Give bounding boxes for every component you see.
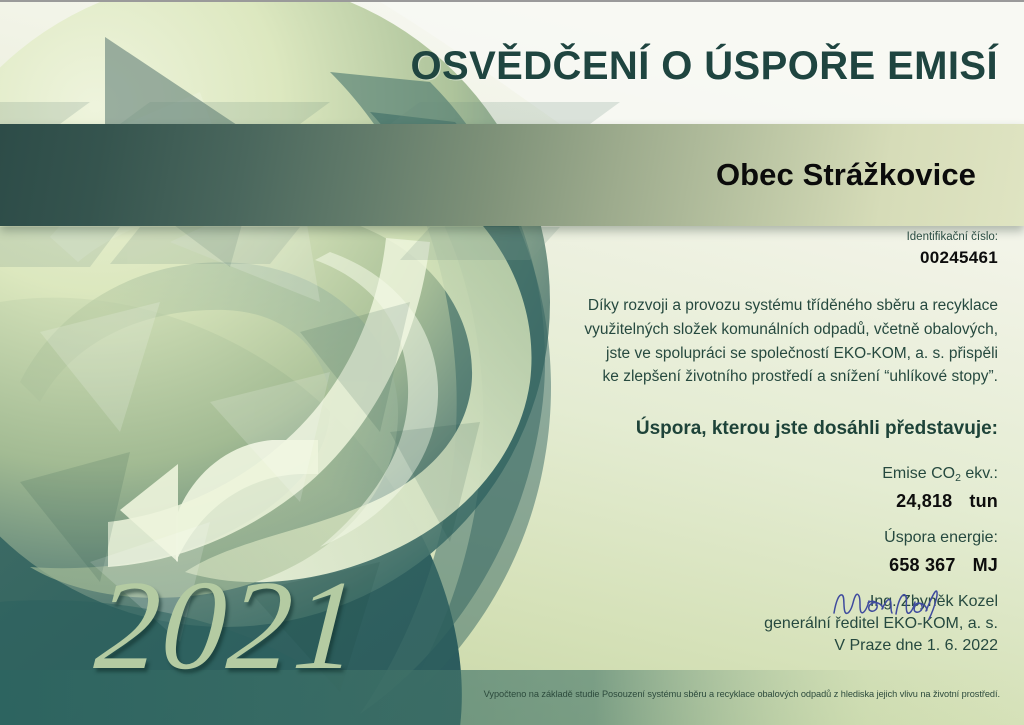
recipient-band: Obec Strážkovice bbox=[0, 124, 1024, 226]
handwritten-signature-icon bbox=[830, 587, 942, 621]
energy-value-row: 658 367MJ bbox=[398, 554, 998, 577]
energy-unit: MJ bbox=[973, 554, 998, 577]
energy-label: Úspora energie: bbox=[398, 527, 998, 549]
co2-label: Emise CO2 ekv.: bbox=[398, 463, 998, 485]
signature-place-date: V Praze dne 1. 6. 2022 bbox=[398, 635, 998, 657]
co2-unit: tun bbox=[969, 490, 998, 513]
certificate-page: 2021 OSVĚDČENÍ O ÚSPOŘE EMISÍ Obec Stráž… bbox=[0, 0, 1024, 725]
co2-label-subscript: 2 bbox=[955, 472, 961, 484]
certificate-content: Identifikační číslo: 00245461 Díky rozvo… bbox=[398, 230, 998, 621]
body-line-1: Díky rozvoji a provozu systému tříděného… bbox=[398, 294, 998, 318]
co2-label-prefix: Emise CO bbox=[882, 465, 955, 482]
body-paragraph: Díky rozvoji a provozu systému tříděného… bbox=[398, 294, 998, 388]
year-watermark: 2021 bbox=[92, 561, 365, 689]
recipient-name: Obec Strážkovice bbox=[716, 157, 976, 193]
body-line-3: jste ve spolupráci se společností EKO-KO… bbox=[398, 342, 998, 366]
savings-heading: Úspora, kterou jste dosáhli představuje: bbox=[398, 417, 998, 442]
co2-value: 24,818 bbox=[896, 491, 952, 511]
energy-value: 658 367 bbox=[889, 555, 955, 575]
co2-label-suffix: ekv.: bbox=[961, 465, 998, 482]
signature-area: Ing. Zbyněk Kozel generální ředitel EKO-… bbox=[398, 591, 998, 621]
identification-label: Identifikační číslo: bbox=[398, 230, 998, 245]
body-line-2: využitelných složek komunálních odpadů, … bbox=[398, 318, 998, 342]
identification-number: 00245461 bbox=[398, 245, 998, 271]
page-title: OSVĚDČENÍ O ÚSPOŘE EMISÍ bbox=[411, 44, 999, 89]
body-line-4: ke zlepšení životního prostředí a snížen… bbox=[398, 365, 998, 389]
co2-value-row: 24,818tun bbox=[398, 490, 998, 513]
footnote: Vypočteno na základě studie Posouzení sy… bbox=[0, 689, 1000, 699]
